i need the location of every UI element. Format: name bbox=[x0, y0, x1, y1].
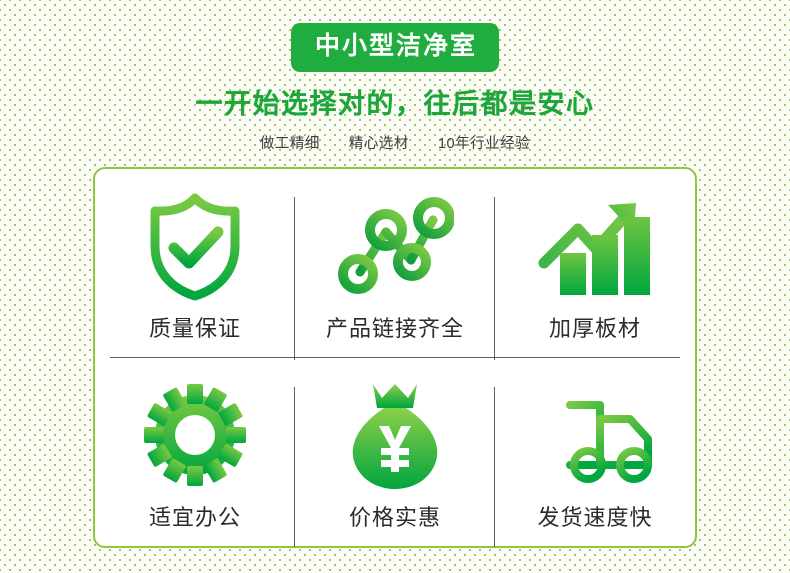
features-card: 质量保证 bbox=[93, 167, 697, 548]
subtitle-item-1: 做工精细 bbox=[260, 136, 320, 152]
page-header: 中小型洁净室 一开始选择对的，往后都是安心 做工精细 精心选材 10年行业经验 bbox=[0, 0, 790, 152]
feature-label: 适宜办公 bbox=[149, 507, 241, 529]
node-link-network-icon bbox=[336, 186, 454, 306]
feature-label: 产品链接齐全 bbox=[326, 318, 464, 340]
feature-cell-fast-shipping[interactable]: 发货速度快 bbox=[495, 358, 695, 547]
feature-cell-thick-panel[interactable]: 加厚板材 bbox=[495, 169, 695, 358]
feature-label: 质量保证 bbox=[149, 318, 241, 340]
feature-cell-affordable-price[interactable]: 价格实惠 bbox=[295, 358, 495, 547]
page-title: 一开始选择对的，往后都是安心 bbox=[0, 91, 790, 118]
bar-chart-up-arrow-icon bbox=[534, 186, 656, 306]
feature-cell-office-suitable[interactable]: 适宜办公 bbox=[95, 358, 295, 547]
divider-horizontal bbox=[110, 357, 680, 358]
feature-label: 发货速度快 bbox=[537, 507, 652, 529]
section-badge: 中小型洁净室 bbox=[291, 23, 499, 72]
divider-vertical-top-right bbox=[494, 197, 495, 360]
feature-cell-product-links[interactable]: 产品链接齐全 bbox=[295, 169, 495, 358]
subtitle-row: 做工精细 精心选材 10年行业经验 bbox=[0, 137, 790, 152]
gear-icon bbox=[140, 375, 250, 495]
subtitle-item-2: 精心选材 bbox=[349, 136, 409, 152]
subtitle-item-3: 10年行业经验 bbox=[438, 136, 530, 152]
feature-label: 价格实惠 bbox=[349, 507, 441, 529]
feature-label: 加厚板材 bbox=[549, 318, 641, 340]
divider-vertical-bottom-left bbox=[294, 387, 295, 547]
feature-cell-quality-guarantee[interactable]: 质量保证 bbox=[95, 169, 295, 358]
divider-vertical-bottom-right bbox=[494, 387, 495, 547]
delivery-truck-speed-icon bbox=[530, 375, 660, 495]
divider-vertical-top-left bbox=[294, 197, 295, 360]
money-bag-yen-icon bbox=[343, 375, 447, 495]
shield-check-icon bbox=[141, 186, 249, 306]
